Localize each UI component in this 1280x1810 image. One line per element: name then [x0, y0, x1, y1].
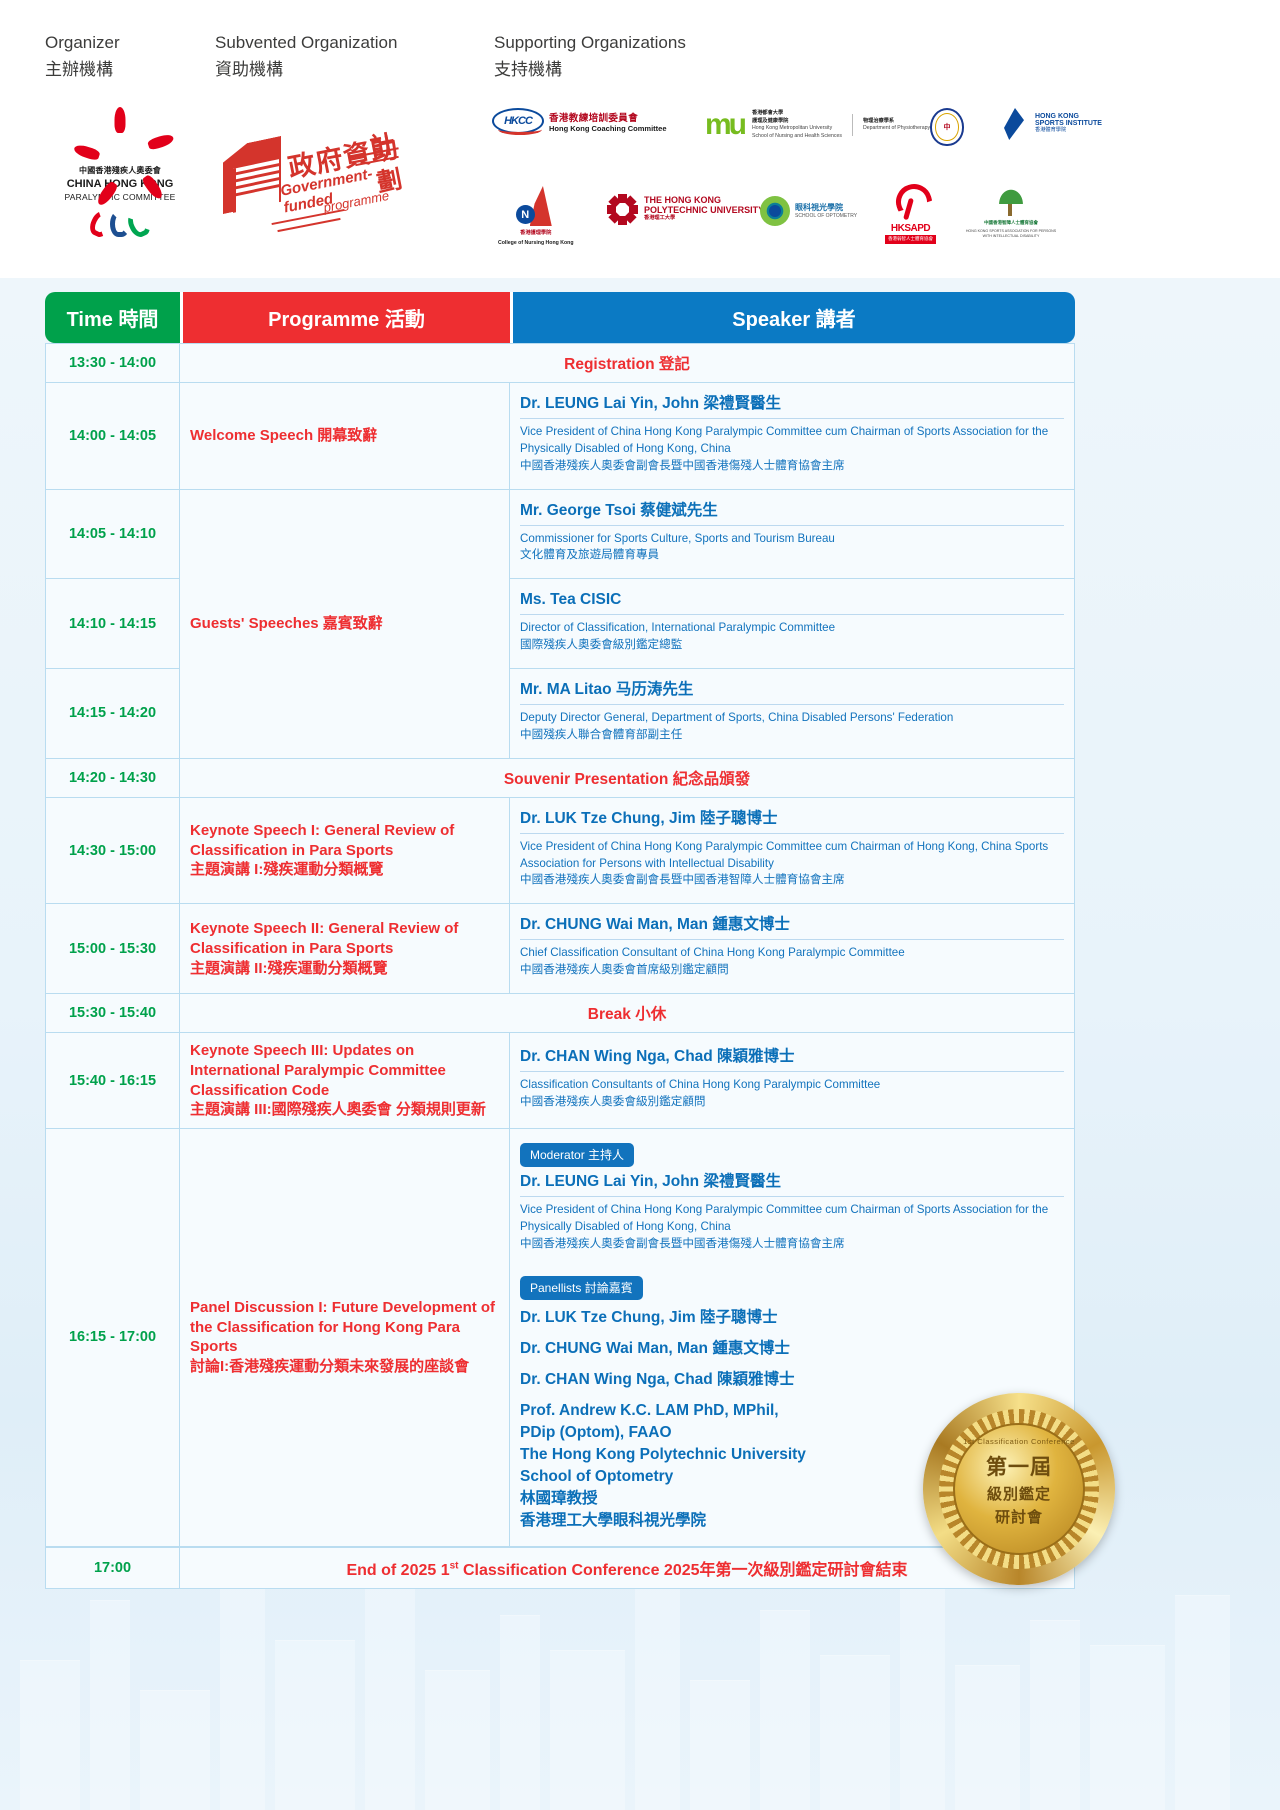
- polyu-icon: [605, 192, 639, 226]
- panellist-name: Dr. LUK Tze Chung, Jim 陸子聰博士: [520, 1307, 1064, 1329]
- end-label-sup: st: [450, 1560, 459, 1571]
- speaker-name: Mr. George Tsoi 蔡健斌先生: [520, 501, 1064, 526]
- table-row-break: 15:30 - 15:40 Break 小休: [45, 994, 1075, 1033]
- polyu-name-en: THE HONG KONG: [644, 195, 764, 205]
- palm-name-en: HONG KONG SPORTS ASSOCIATION FOR PERSONS…: [965, 229, 1057, 239]
- header-programme: Programme 活動: [180, 292, 510, 343]
- divider: [852, 114, 853, 136]
- hksi-icon: [1000, 106, 1030, 142]
- speaker-guest-3: Mr. MA Litao 马历涛先生 Deputy Director Gener…: [510, 669, 1075, 759]
- hkmu-dept-en: Department of Physiotherapy: [863, 125, 930, 133]
- hkmu-dept-zh: 物理治療學系: [863, 118, 930, 126]
- hkmu-icon: mu: [705, 113, 744, 137]
- supporting-label-en: Supporting Organizations: [494, 30, 686, 56]
- logos-header: Organizer 主辦機構 Subvented Organization 資助…: [0, 0, 1280, 278]
- supporting-logo-hkmu: mu 香港都會大學 護理及健康學院 Hong Kong Metropolitan…: [705, 110, 930, 140]
- table-row-panel-discussion: 16:15 - 17:00 Panel Discussion I: Future…: [45, 1129, 1075, 1547]
- conh-name-en: College of Nursing Hong Kong: [498, 240, 574, 248]
- programme-page: Organizer 主辦機構 Subvented Organization 資助…: [0, 0, 1280, 1810]
- polyu-name-en2: POLYTECHNIC UNIVERSITY: [644, 205, 764, 215]
- programme-panel: Panel Discussion I: Future Development o…: [180, 1129, 510, 1547]
- end-label-b: Classification Conference 2025年第一次級別鑑定研討…: [459, 1562, 908, 1579]
- supporting-logo-hksi: HONG KONG SPORTS INSTITUTE 香港體育學院: [1000, 106, 1102, 142]
- programme-title-en: Keynote Speech III: Updates on Internati…: [190, 1041, 499, 1100]
- subvented-label-zh: 資助機構: [215, 56, 397, 83]
- time-souvenir: 14:20 - 14:30: [45, 759, 180, 798]
- speaker-desc-zh: 中國香港殘疾人奧委會首席級別鑑定顧問: [520, 962, 1064, 979]
- bauhinia-icon: [93, 106, 147, 160]
- time-keynote-2: 15:00 - 15:30: [45, 904, 180, 994]
- panellists-tag: Panellists 討論嘉賓: [520, 1276, 643, 1300]
- programme-title-en: Keynote Speech II: General Review of Cla…: [190, 919, 499, 959]
- time-welcome: 14:00 - 14:05: [45, 383, 180, 490]
- programme-keynote-3: Keynote Speech III: Updates on Internati…: [180, 1033, 510, 1129]
- hkmu-name-zh2: 護理及健康學院: [752, 118, 842, 126]
- speaker-desc-en: Commissioner for Sports Culture, Sports …: [520, 532, 835, 545]
- programme-keynote-1: Keynote Speech I: General Review of Clas…: [180, 798, 510, 905]
- hkcc-name-en: Hong Kong Coaching Committee: [549, 124, 667, 133]
- speaker-name: Dr. LUK Tze Chung, Jim 陸子聰博士: [520, 809, 1064, 834]
- time-break: 15:30 - 15:40: [45, 994, 180, 1033]
- programme-keynote-2: Keynote Speech II: General Review of Cla…: [180, 904, 510, 994]
- supporting-logo-hksapd: HKSAPD 香港弱智人士體育協會: [885, 182, 936, 244]
- moderator-name: Dr. LEUNG Lai Yin, John 梁禮賢醫生: [520, 1172, 1064, 1197]
- time-panel: 16:15 - 17:00: [45, 1129, 180, 1547]
- moderator-desc-en: Vice President of China Hong Kong Paraly…: [520, 1203, 1048, 1233]
- speaker-desc-en: Classification Consultants of China Hong…: [520, 1078, 880, 1091]
- table-row-guest-1: 14:05 - 14:10 Guests' Speeches 嘉賓致辭 Mr. …: [45, 490, 1075, 580]
- label-registration: Registration 登記: [180, 343, 1075, 383]
- seal-inner-disc: 1st Classification Conference 第一屆 級別鑑定 研…: [953, 1423, 1085, 1555]
- programme-title-en: Panel Discussion I: Future Development o…: [190, 1298, 499, 1357]
- speaker-desc-zh: 文化體育及旅遊局體育專員: [520, 547, 1064, 564]
- panellist-name: Dr. CHUNG Wai Man, Man 鍾惠文博士: [520, 1338, 1064, 1360]
- programme-table-wrap: Time 時間 Programme 活動 Speaker 講者 13:30 - …: [45, 292, 1075, 1589]
- supporting-logo-palm: 中國香港智障人士體育協會 HONG KONG SPORTS ASSOCIATIO…: [965, 184, 1057, 239]
- table-row-keynote-3: 15:40 - 16:15 Keynote Speech III: Update…: [45, 1033, 1075, 1129]
- conh-name-zh: 香港護理學院: [520, 230, 551, 238]
- table-header-row: Time 時間 Programme 活動 Speaker 講者: [45, 292, 1075, 343]
- header-col-organizer: Organizer 主辦機構: [45, 30, 120, 83]
- programme-table: Time 時間 Programme 活動 Speaker 講者 13:30 - …: [45, 292, 1075, 1589]
- crest-icon: 中: [930, 108, 964, 146]
- palm-tree-icon: [994, 184, 1028, 218]
- speaker-desc-en: Chief Classification Consultant of China…: [520, 946, 905, 959]
- optometry-name-zh: 眼科視光學院: [795, 202, 857, 214]
- table-row-keynote-1: 14:30 - 15:00 Keynote Speech I: General …: [45, 798, 1075, 905]
- supporting-logo-crest: 中: [930, 108, 964, 146]
- speaker-desc-zh: 中國香港殘疾人奧委會副會長暨中國香港智障人士體育協會主席: [520, 872, 1064, 889]
- header-col-subvented: Subvented Organization 資助機構: [215, 30, 397, 83]
- moderator-tag: Moderator 主持人: [520, 1143, 634, 1167]
- hksi-name-zh: 香港體育學院: [1035, 127, 1102, 135]
- speaker-desc-en: Vice President of China Hong Kong Paraly…: [520, 840, 1048, 870]
- hksi-name-en: HONG KONG: [1035, 113, 1102, 120]
- speaker-desc-zh: 國際殘疾人奧委會級別鑑定總監: [520, 637, 1064, 654]
- moderator-desc-zh: 中國香港殘疾人奧委會副會長暨中國香港傷殘人士體育協會主席: [520, 1236, 1064, 1253]
- speaker-guest-1: Mr. George Tsoi 蔡健斌先生 Commissioner for S…: [510, 490, 1075, 580]
- speaker-desc-en: Director of Classification, Internationa…: [520, 621, 835, 634]
- time-registration: 13:30 - 14:00: [45, 343, 180, 383]
- speaker-keynote-1: Dr. LUK Tze Chung, Jim 陸子聰博士 Vice Presid…: [510, 798, 1075, 905]
- speaker-welcome: Dr. LEUNG Lai Yin, John 梁禮賢醫生 Vice Presi…: [510, 383, 1075, 490]
- panellist-name: Dr. CHAN Wing Nga, Chad 陳穎雅博士: [520, 1369, 1064, 1391]
- hksapd-icon: [890, 182, 932, 222]
- speaker-desc-en: Vice President of China Hong Kong Paraly…: [520, 425, 1048, 455]
- speaker-name: Mr. MA Litao 马历涛先生: [520, 680, 1064, 705]
- seal-line-2: 級別鑑定: [987, 1483, 1051, 1504]
- speaker-keynote-3: Dr. CHAN Wing Nga, Chad 陳穎雅博士 Classifica…: [510, 1033, 1075, 1129]
- time-guest-3: 14:15 - 14:20: [45, 669, 180, 759]
- seal-arc-text: 1st Classification Conference: [955, 1437, 1083, 1446]
- label-break: Break 小休: [180, 994, 1075, 1033]
- hksapd-name-en: HKSAPD: [891, 223, 930, 234]
- programme-title-zh: 主題演講 I:殘疾運動分類概覽: [190, 860, 499, 880]
- palm-name-zh: 中國香港智障人士體育協會: [984, 220, 1038, 227]
- label-souvenir: Souvenir Presentation 紀念品頒發: [180, 759, 1075, 798]
- conference-seal-badge: 1st Classification Conference 第一屆 級別鑑定 研…: [923, 1393, 1115, 1585]
- speaker-keynote-2: Dr. CHUNG Wai Man, Man 鍾惠文博士 Chief Class…: [510, 904, 1075, 994]
- programme-title-en: Keynote Speech I: General Review of Clas…: [190, 821, 499, 861]
- seal-line-1: 第一屆: [986, 1451, 1052, 1481]
- header-speaker: Speaker 講者: [510, 292, 1075, 343]
- programme-guests-speeches: Guests' Speeches 嘉賓致辭: [180, 490, 510, 759]
- organizer-label-en: Organizer: [45, 30, 120, 56]
- speaker-desc-zh: 中國香港殘疾人奧委會副會長暨中國香港傷殘人士體育協會主席: [520, 458, 1064, 475]
- speaker-desc-zh: 中國殘疾人聯合會體育部副主任: [520, 727, 1064, 744]
- table-row-souvenir: 14:20 - 14:30 Souvenir Presentation 紀念品頒…: [45, 759, 1075, 798]
- supporting-logo-hkcc: HKCC 香港教練培訓委員會 Hong Kong Coaching Commit…: [492, 108, 667, 134]
- programme-welcome: Welcome Speech 開幕致辭: [180, 383, 510, 490]
- speaker-name: Dr. LEUNG Lai Yin, John 梁禮賢醫生: [520, 394, 1064, 419]
- speaker-guest-2: Ms. Tea CISIC Director of Classification…: [510, 579, 1075, 669]
- table-row-registration: 13:30 - 14:00 Registration 登記: [45, 343, 1075, 383]
- speaker-name: Ms. Tea CISIC: [520, 590, 1064, 615]
- header-col-supporting: Supporting Organizations 支持機構: [494, 30, 686, 83]
- speaker-name: Dr. CHAN Wing Nga, Chad 陳穎雅博士: [520, 1047, 1064, 1072]
- agitos-icon: [88, 209, 152, 239]
- table-row-end: 17:00 End of 2025 1st Classification Con…: [45, 1547, 1075, 1589]
- hkmu-name-en: Hong Kong Metropolitan University: [752, 125, 842, 133]
- college-of-nursing-icon: [516, 186, 556, 228]
- polyu-name-zh: 香港理工大學: [644, 215, 764, 223]
- supporting-logo-optometry: 眼科視光學院 SCHOOL OF OPTOMETRY: [760, 196, 857, 226]
- end-label-a: End of 2025 1: [346, 1562, 449, 1579]
- organizer-label-zh: 主辦機構: [45, 56, 120, 83]
- table-row-keynote-2: 15:00 - 15:30 Keynote Speech II: General…: [45, 904, 1075, 994]
- time-end: 17:00: [45, 1547, 180, 1589]
- time-keynote-3: 15:40 - 16:15: [45, 1033, 180, 1129]
- header-time: Time 時間: [45, 292, 180, 343]
- speaker-desc-zh: 中國香港殘疾人奧委會級別鑑定顧問: [520, 1094, 1064, 1111]
- chkpc-logo: 中國香港殘疾人奧委會 CHINA HONG KONG PARALYMPIC CO…: [40, 106, 200, 239]
- supporting-logo-polyu: THE HONG KONG POLYTECHNIC UNIVERSITY 香港理…: [605, 192, 764, 226]
- supporting-label-zh: 支持機構: [494, 56, 686, 83]
- hksapd-name-zh: 香港弱智人士體育協會: [885, 235, 936, 244]
- programme-title-zh: 主題演講 III:國際殘疾人奧委會 分類規則更新: [190, 1100, 499, 1120]
- seal-line-3: 研討會: [995, 1506, 1043, 1527]
- optometry-icon: [760, 196, 790, 226]
- programme-title-zh: 討論I:香港殘疾運動分類未來發展的座談會: [190, 1357, 499, 1377]
- time-keynote-1: 14:30 - 15:00: [45, 798, 180, 905]
- optometry-name-en: SCHOOL OF OPTOMETRY: [795, 213, 857, 220]
- hkcc-name-zh: 香港教練培訓委員會: [549, 110, 667, 124]
- gov-building-stripes-icon: [233, 159, 279, 213]
- programme-title-zh: 主題演講 II:殘疾運動分類概覽: [190, 959, 499, 979]
- time-guest-2: 14:10 - 14:15: [45, 579, 180, 669]
- hkmu-name-en2: School of Nursing and Health Sciences: [752, 133, 842, 141]
- speaker-desc-en: Deputy Director General, Department of S…: [520, 711, 953, 724]
- speaker-name: Dr. CHUNG Wai Man, Man 鍾惠文博士: [520, 915, 1064, 940]
- table-row-welcome: 14:00 - 14:05 Welcome Speech 開幕致辭 Dr. LE…: [45, 383, 1075, 490]
- hkmu-name-zh: 香港都會大學: [752, 110, 842, 118]
- supporting-logo-conh: 香港護理學院 College of Nursing Hong Kong: [498, 186, 574, 247]
- hkcc-icon: HKCC: [492, 108, 544, 134]
- subvented-label-en: Subvented Organization: [215, 30, 397, 56]
- time-guest-1: 14:05 - 14:10: [45, 490, 180, 580]
- government-funded-programme-logo: 政府資助 計劃 Government-funded programme: [215, 118, 415, 228]
